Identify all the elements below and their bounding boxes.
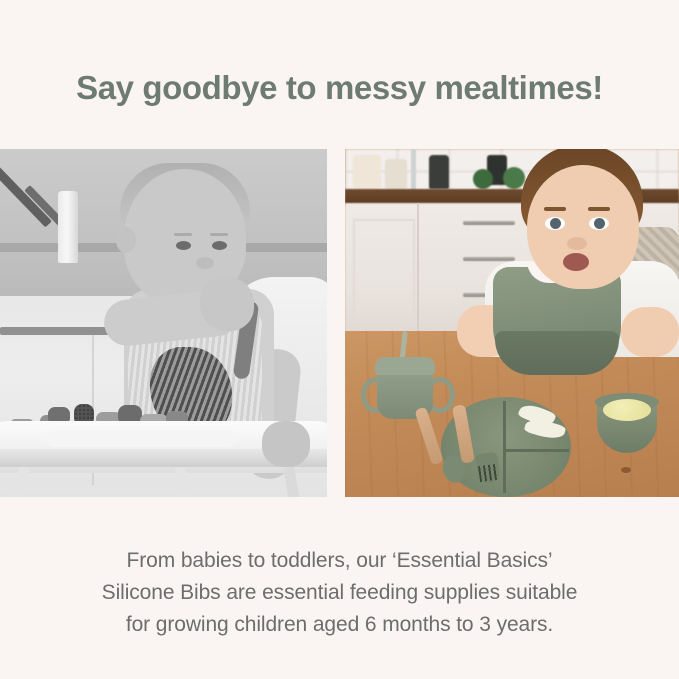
- drawer-handle: [0, 327, 110, 335]
- photo-messy-baby-before: [0, 149, 327, 497]
- cabinet-seam: [417, 203, 419, 345]
- baby-hand: [200, 277, 254, 331]
- high-chair-leg: [175, 467, 188, 497]
- plate-divider: [503, 401, 506, 493]
- description-line-1: From babies to toddlers, our ‘Essential …: [0, 545, 679, 577]
- photo-silicone-bib-after: [345, 149, 679, 497]
- description-line-3: for growing children aged 6 months to 3 …: [0, 609, 679, 641]
- baby-head: [527, 165, 639, 289]
- baby-eyebrow-left: [174, 233, 192, 236]
- green-decor-object: [503, 167, 525, 189]
- dark-bottle: [429, 155, 449, 189]
- baby-eyebrow-right: [210, 233, 228, 236]
- baby-nose: [196, 257, 214, 269]
- drawer-handle: [463, 257, 515, 261]
- counter-jar: [385, 159, 407, 189]
- cabinet-door-panel: [353, 219, 415, 343]
- baby-hand-right: [262, 421, 310, 467]
- baby-pupil-right: [594, 218, 605, 229]
- baby-eye-right: [212, 241, 227, 250]
- counter-jar: [353, 155, 381, 189]
- sippy-cup-lid: [375, 357, 435, 375]
- drawer-handle: [463, 221, 515, 225]
- yellow-puree: [603, 399, 651, 421]
- baby-pupil-left: [550, 218, 561, 229]
- table-wood-knot: [621, 467, 631, 473]
- green-decor-object: [473, 169, 493, 189]
- baby-eyebrow-right: [588, 207, 610, 211]
- baby-eye-left: [176, 241, 191, 250]
- bottle-object: [58, 191, 78, 263]
- baby-ear: [116, 227, 136, 253]
- tray-inner-well: [46, 431, 236, 447]
- faucet: [411, 149, 416, 191]
- fork-tines: [478, 464, 498, 482]
- bib-catch-pocket: [495, 331, 619, 375]
- page-title: Say goodbye to messy mealtimes!: [0, 68, 679, 108]
- plate-divider-secondary: [503, 449, 569, 452]
- baby-right-arm: [621, 307, 679, 357]
- baby-eyebrow-left: [544, 207, 566, 211]
- product-feature-card: Say goodbye to messy mealtimes!: [0, 0, 679, 679]
- baby-mouth: [563, 253, 589, 271]
- description-line-2: Silicone Bibs are essential feeding supp…: [0, 577, 679, 609]
- description-text: From babies to toddlers, our ‘Essential …: [0, 545, 679, 641]
- image-pair: [0, 149, 679, 497]
- baby-nose: [567, 237, 587, 250]
